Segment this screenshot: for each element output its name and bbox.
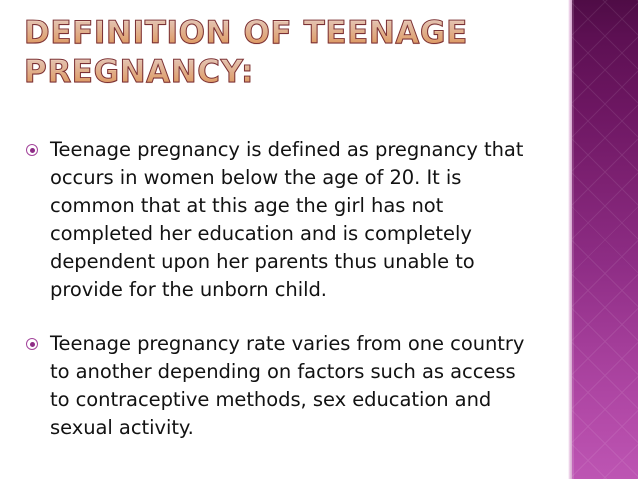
bullet-list-item: Teenage pregnancy is defined as pregnanc…: [24, 136, 532, 304]
fisheye-bullet-icon: [26, 338, 38, 350]
presentation-slide: Definition of teenage pregnancy: Teenage…: [0, 0, 638, 479]
band-diamond-pattern: [572, 0, 638, 479]
slide-title: Definition of teenage pregnancy:: [24, 14, 544, 92]
slide-body: Teenage pregnancy is defined as pregnanc…: [24, 136, 532, 442]
bullet-item-text: Teenage pregnancy is defined as pregnanc…: [50, 136, 532, 304]
band-inner-edge: [572, 0, 574, 479]
bullet-list-item: Teenage pregnancy rate varies from one c…: [24, 330, 532, 442]
slide-title-line-1: Definition of teenage: [24, 14, 544, 53]
fisheye-bullet-icon: [26, 144, 38, 156]
slide-title-line-2: pregnancy:: [24, 53, 544, 92]
right-purple-gradient-band: [568, 0, 638, 479]
bullet-item-text: Teenage pregnancy rate varies from one c…: [50, 330, 532, 442]
